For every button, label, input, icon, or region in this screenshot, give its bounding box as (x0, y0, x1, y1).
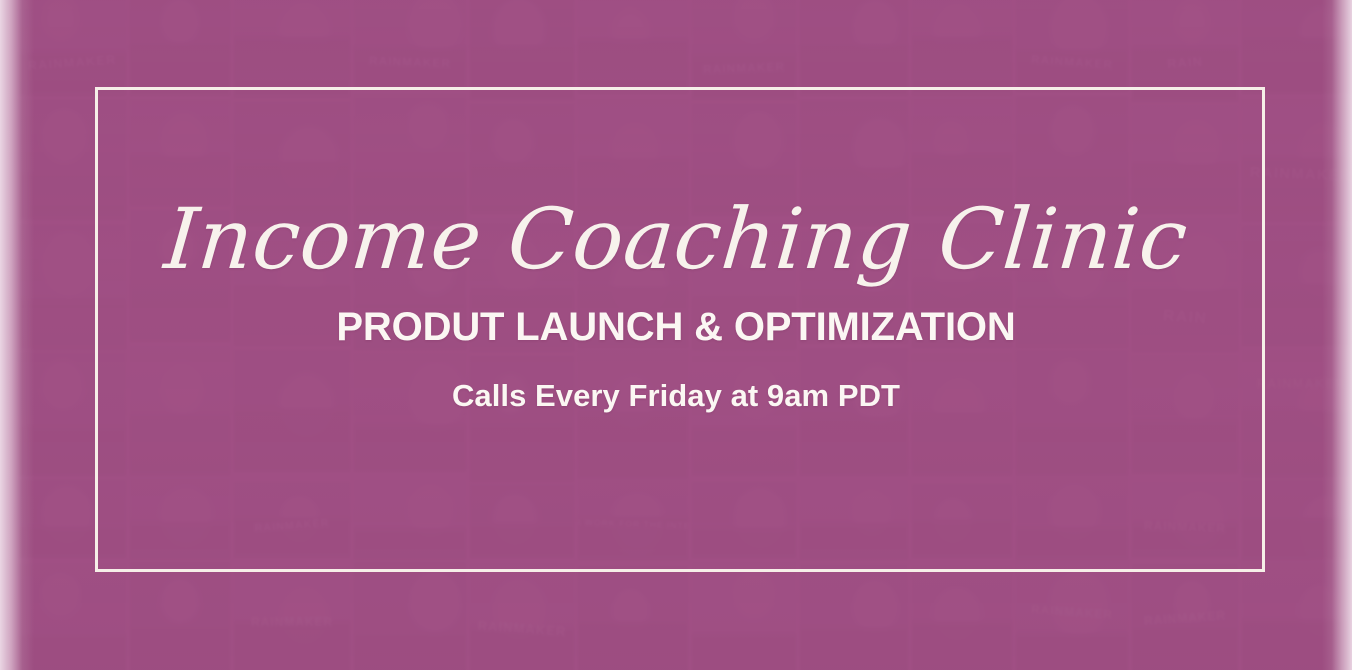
banner-text-block: Income Coaching Clinic PRODUT LAUNCH & O… (0, 196, 1352, 413)
promo-banner: RAINMAKERRAINMAKERRAINMAKERRAINMAKERRAIN… (0, 0, 1352, 670)
banner-subtitle: PRODUT LAUNCH & OPTIMIZATION (0, 305, 1352, 349)
banner-tagline: Calls Every Friday at 9am PDT (0, 379, 1352, 413)
banner-script-title: Income Coaching Clinic (0, 196, 1352, 283)
